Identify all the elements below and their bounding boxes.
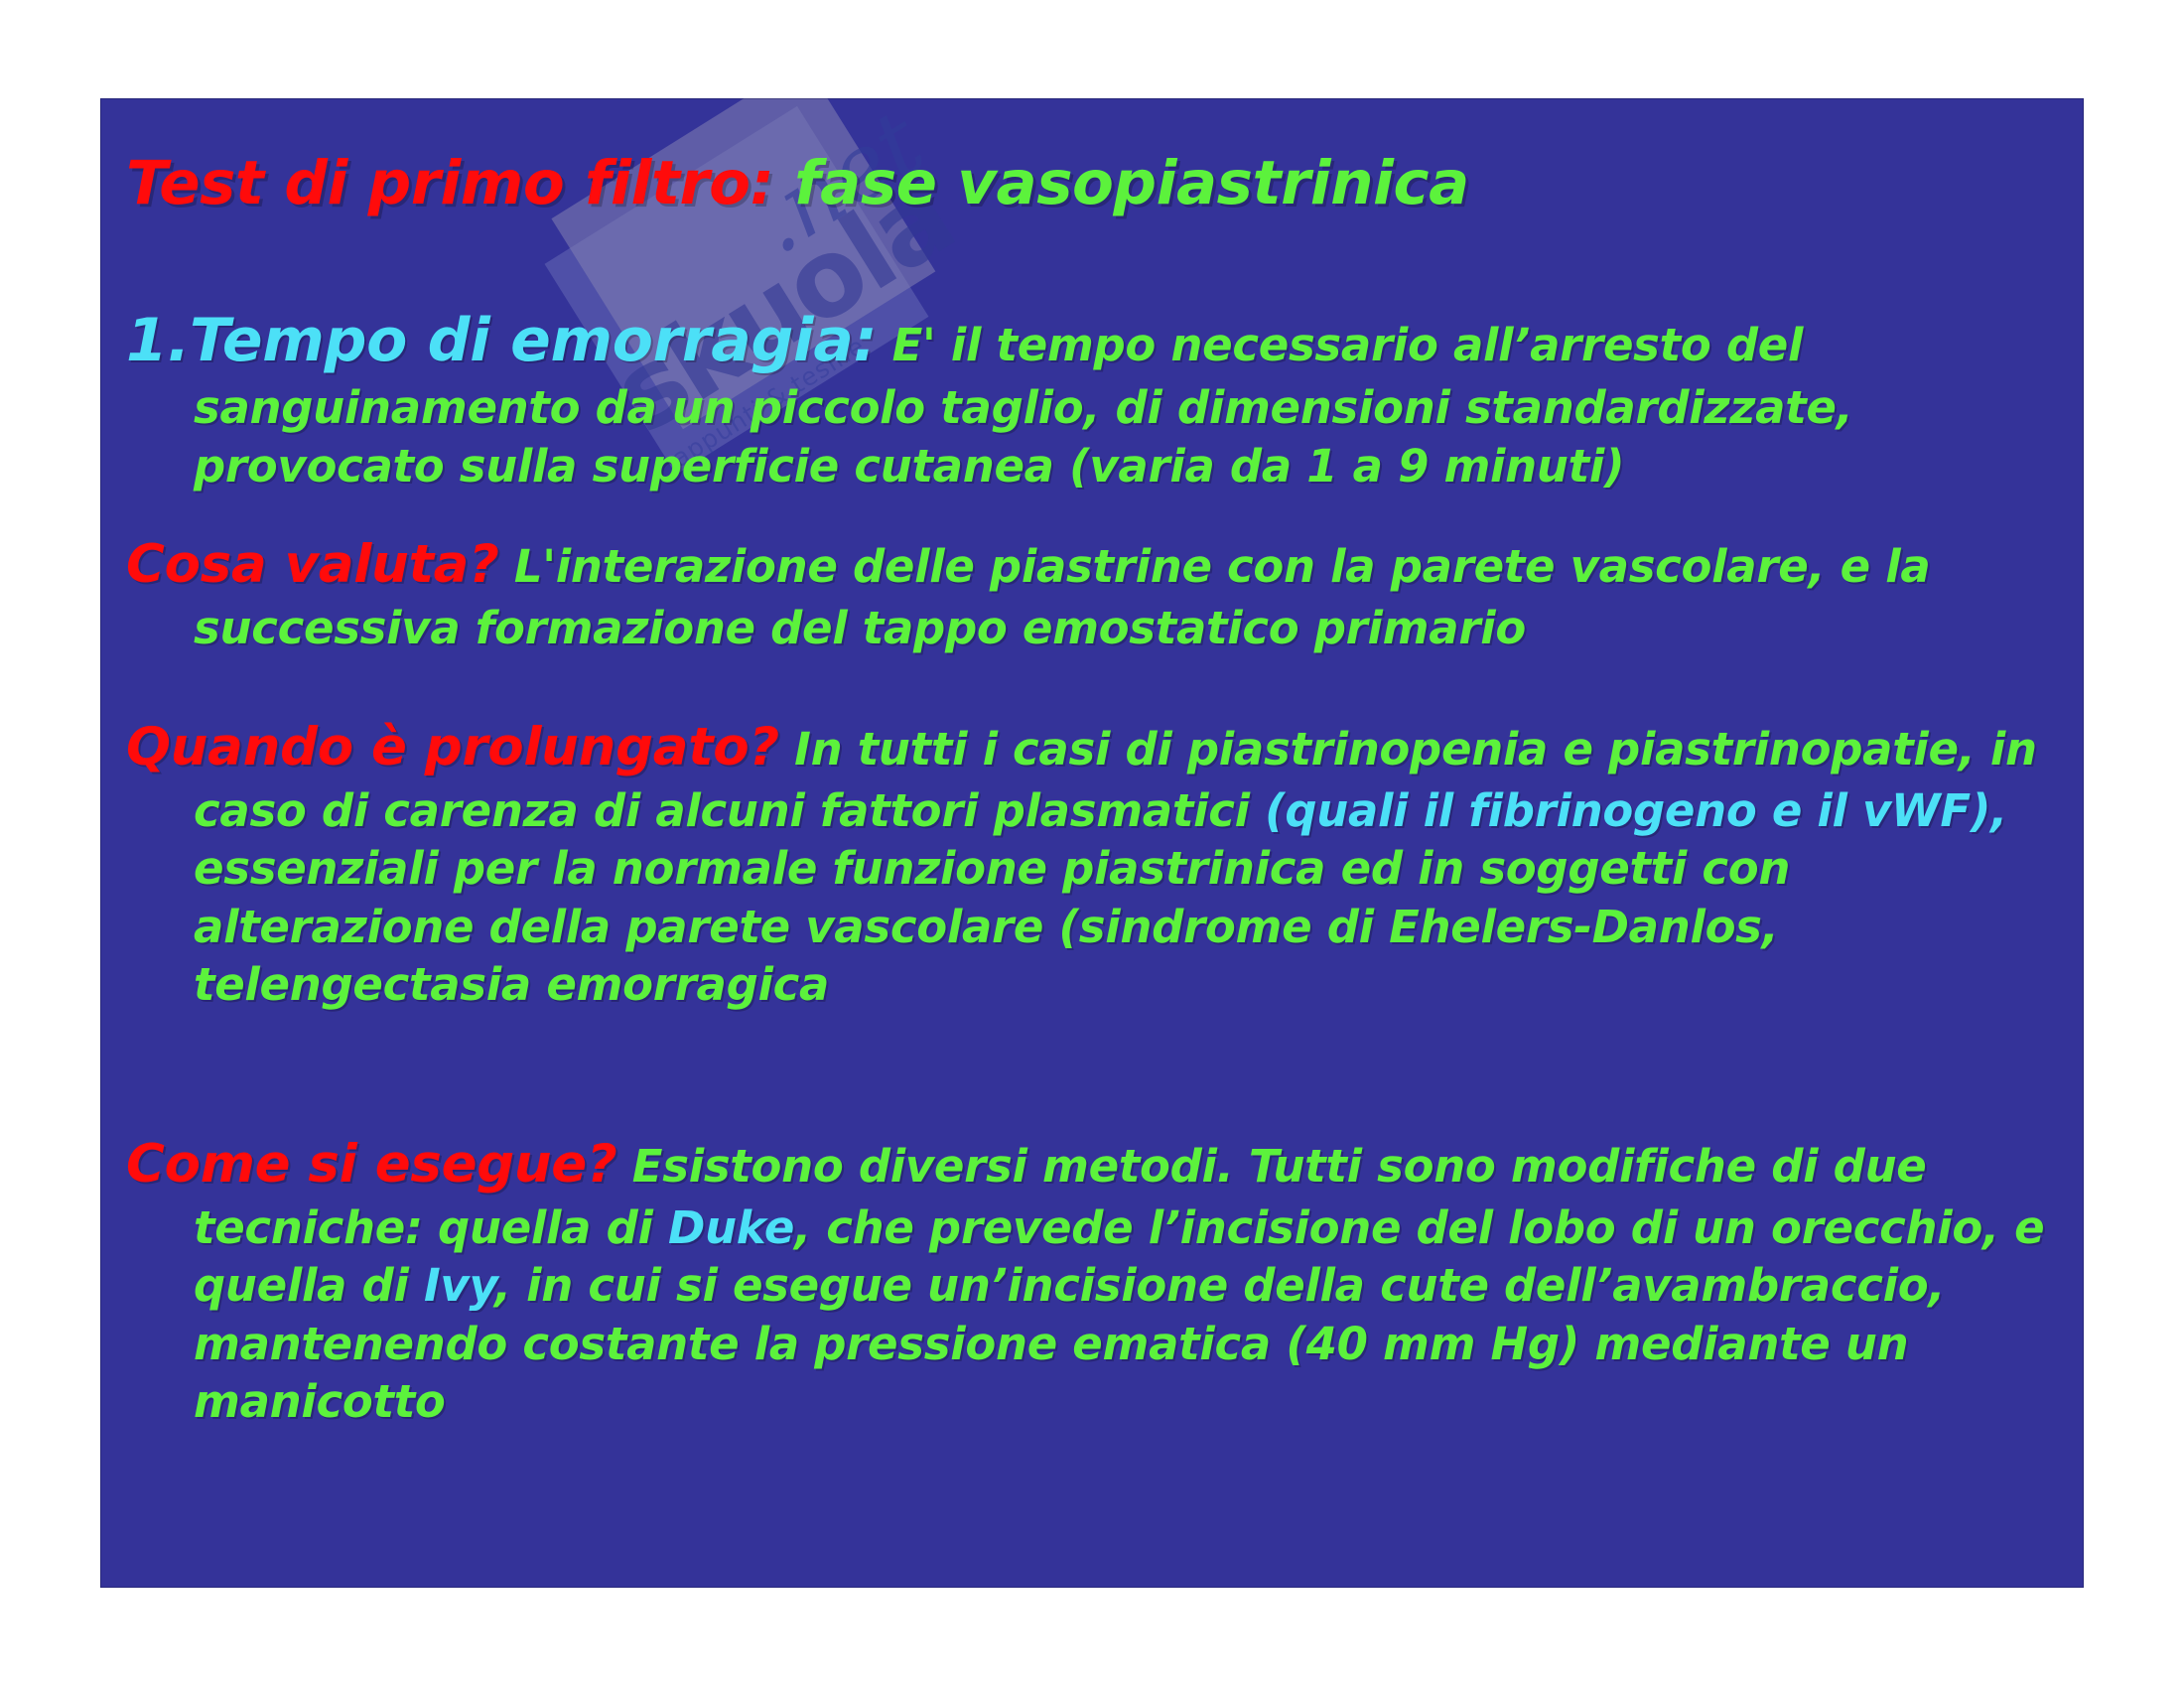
bullet-2-lead: Cosa valuta? (126, 534, 499, 595)
slide-title-green-part: fase vasopiastrinica (773, 148, 1468, 218)
bullet-4-lead: Come si esegue? (126, 1134, 616, 1195)
bullet-3-lead: Quando è prolungato? (126, 717, 779, 777)
bullet-quando-e-prolungato: Quando è prolungato? In tutti i casi di … (126, 714, 2062, 1015)
bullet-3-body-part2: essenziali per la normale funzione piast… (194, 842, 1790, 1011)
presentation-slide: skuola .net appunti & tesine Test di pri… (100, 98, 2084, 1588)
bullet-3-body-cyan: (quali il fibrinogeno e il vWF), (1265, 784, 2007, 837)
bullet-4-method-ivy: Ivy (424, 1259, 494, 1312)
slide-canvas: skuola .net appunti & tesine Test di pri… (0, 0, 2184, 1688)
slide-title-red-part: Test di primo filtro: (126, 148, 773, 218)
bullet-4-method-duke: Duke (668, 1201, 794, 1254)
bullet-tempo-di-emorragia: 1.Tempo di emorragia: E' il tempo necess… (126, 302, 2062, 495)
slide-title: Test di primo filtro: fase vasopiastrini… (126, 150, 2052, 217)
bullet-come-si-esegue: Come si esegue? Esistono diversi metodi.… (126, 1131, 2062, 1432)
bullet-cosa-valuta: Cosa valuta? L'interazione delle piastri… (126, 531, 2062, 657)
bullet-1-lead: 1.Tempo di emorragia: (126, 306, 877, 375)
